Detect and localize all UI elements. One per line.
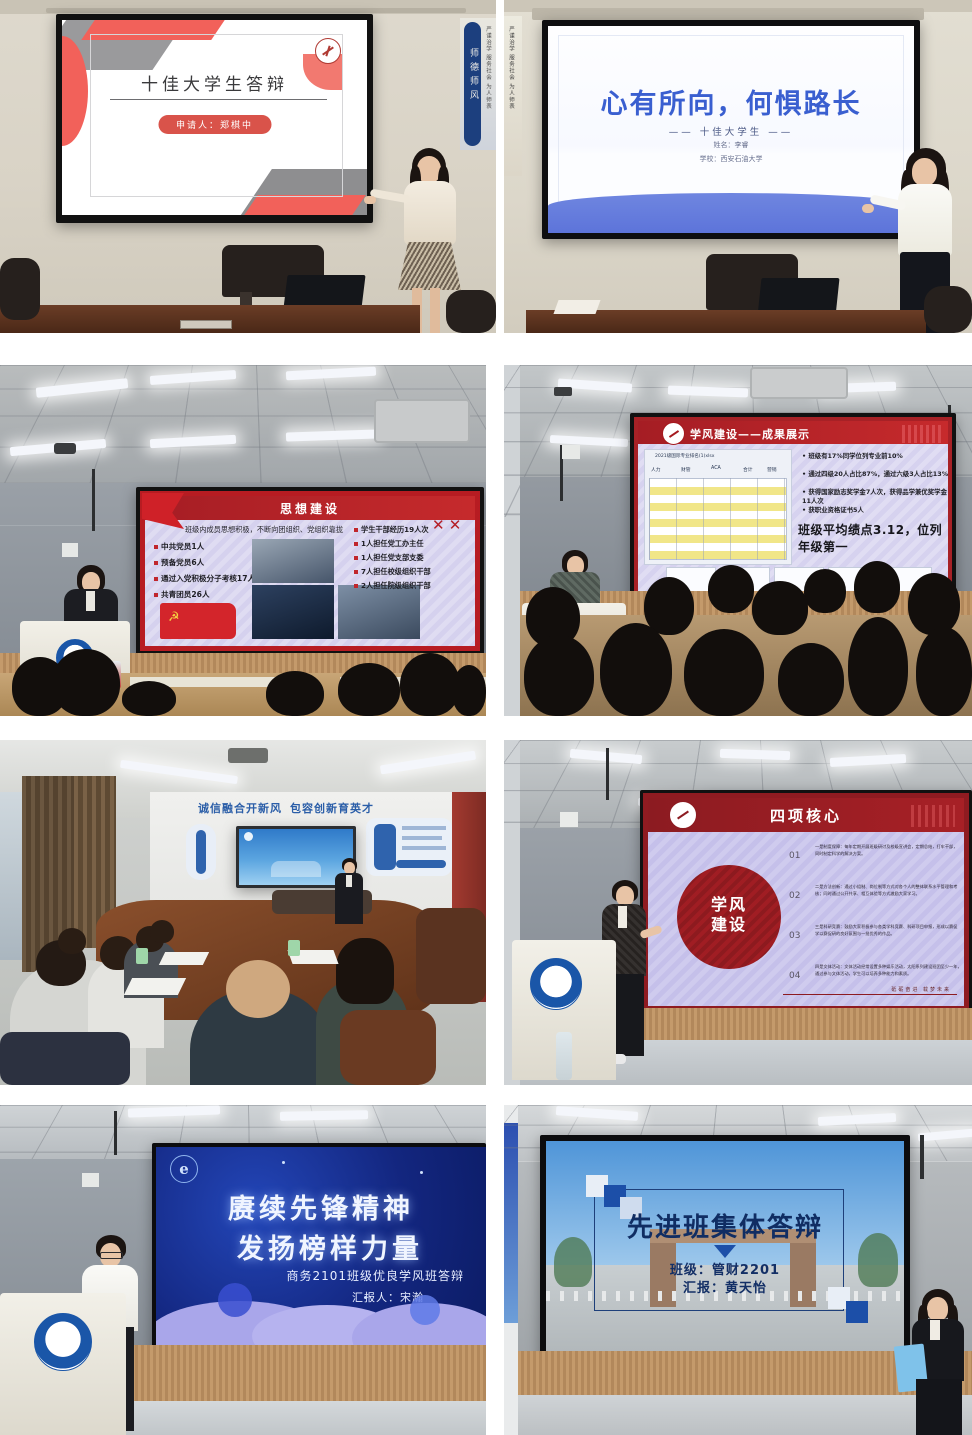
slide-bullet: 1人担任党工办主任 xyxy=(354,539,424,549)
school-logo-icon xyxy=(315,38,341,64)
slide-bullet: 共青团员26人 xyxy=(154,589,210,600)
slide-bullet: • 获得国家励志奖学金7人次，获得品学兼优奖学金11人次 xyxy=(802,487,952,505)
mount-pole xyxy=(920,1135,924,1179)
cup xyxy=(288,940,300,956)
slide-display-7: e 赓续先锋精神 发扬榜样力量 商务2101班级优良学风班答辩 汇报人：宋瀚 xyxy=(156,1147,486,1353)
slide-table: 2021级国际专业排名(1)xlsx 人力 财管 ACA 合计 营销 xyxy=(644,449,792,565)
cup xyxy=(136,948,148,964)
center-circle-label: 学风建设 xyxy=(677,895,781,935)
photo-row4-left[interactable]: e 赓续先锋精神 发扬榜样力量 商务2101班级优良学风班答辩 汇报人：宋瀚 xyxy=(0,1105,486,1435)
slide-title: 学风建设——成果展示 xyxy=(690,426,810,442)
slide-table-caption: 2021级国际专业排名(1)xlsx xyxy=(655,453,714,459)
slide-subtitle: —— 十佳大学生 —— xyxy=(548,124,914,138)
item-text: 三是科研竞赛：鼓励大家积极参与各类学科竞赛、科研项目申报，形成以赛促学以赛促研的… xyxy=(815,923,961,937)
brand-logo-icon: e xyxy=(170,1155,198,1183)
slide-display-8: 先进班集体答辩 班级：管财2201 汇报：黄天怡 xyxy=(546,1141,904,1371)
item-number: 03 xyxy=(789,931,800,941)
school-logo-icon xyxy=(662,422,685,445)
school-emblem-icon xyxy=(530,958,582,1010)
slide-title-line2: 发扬榜样力量 xyxy=(174,1227,486,1266)
dove-icon: ✕ ✕ xyxy=(432,519,470,537)
item-text: 二是方法创新：通过小组制、岗位制等方式对各个人的整体联系水平管理和考核；同时通过… xyxy=(815,883,963,897)
projector-icon xyxy=(54,443,76,454)
triangle-marker xyxy=(714,1245,736,1258)
wall-banner-partial: 严谨治学 服务社会 为人师表 xyxy=(504,16,522,176)
lectern xyxy=(0,1293,126,1435)
photo-row2-right[interactable]: 学风建设——成果展示 2021级国际专业排名(1)xlsx 人力 财管 ACA … xyxy=(504,365,972,716)
photo-row1-right[interactable]: 严谨治学 服务社会 为人师表 心有所向，何惧路长 —— 十佳大学生 —— 姓名：… xyxy=(504,0,972,333)
skyline-decor xyxy=(902,425,942,443)
item-text: 一是制度保障：每年定期开展班级研讨及校级宣讲会，定期总结，打牢干部，同时制定科学… xyxy=(815,843,961,857)
wall-slogan-left: 诚信融合开新风 xyxy=(198,800,282,816)
slide-title: 先进班集体答辩 xyxy=(546,1207,904,1244)
slide-title-line1: 赓续先锋精神 xyxy=(156,1187,486,1226)
glasses-icon xyxy=(100,1252,123,1259)
wall-banner-sub: 严谨治学 服务社会 为人师表 xyxy=(507,26,515,110)
slide-bullet: 2人担任院级组织干部 xyxy=(354,581,431,591)
item-number: 01 xyxy=(789,851,800,861)
slide-field-reporter: 汇报：黄天怡 xyxy=(546,1277,904,1296)
slide-applicant-badge: 申请人：郑棋中 xyxy=(158,115,271,134)
slide-title: 十佳大学生答辩 xyxy=(62,70,367,95)
slide-display-2: 心有所向，何惧路长 —— 十佳大学生 —— 姓名：李睿 学校：西安石油大学 xyxy=(548,26,914,233)
slide-subtitle: 商务2101班级优良学风班答辩 xyxy=(286,1267,464,1284)
ac-vent xyxy=(374,399,470,443)
slide-bullet: 中共党员1人 xyxy=(154,541,204,552)
item-text: 四是文体活动：文体活动经常设置多种娱乐活动，太阳系列建设班团至少一年，通过参与文… xyxy=(815,963,963,977)
slide-footer: 砥砺奋进 载梦未来 xyxy=(891,986,951,993)
slide-field-school: 学校：西安石油大学 xyxy=(548,154,914,164)
slide-display-1: 十佳大学生答辩 申请人：郑棋中 xyxy=(62,20,367,215)
slide-bullet: 学生干部经历19人次 xyxy=(354,525,429,535)
slide-display-4: 学风建设——成果展示 2021级国际专业排名(1)xlsx 人力 财管 ACA … xyxy=(634,417,952,599)
slide-title: 心有所向，何惧路长 xyxy=(548,82,914,121)
projector-icon xyxy=(228,748,268,763)
school-emblem-icon xyxy=(34,1313,92,1371)
wall-banner-headline: 师德师风 xyxy=(467,48,480,104)
photo-row1-left[interactable]: 十佳大学生答辩 申请人：郑棋中 师德师风 严谨治学 服务社会 为人师表 xyxy=(0,0,496,333)
slide-bullet: • 班级有17%同学位列专业前10% xyxy=(802,451,903,460)
slide-bullet: • 获职业资格证书5人 xyxy=(802,505,864,514)
ac-vent xyxy=(750,367,848,399)
skyline-decor xyxy=(911,805,955,827)
party-flag-icon: ☭ xyxy=(160,603,236,639)
wall-banner: 师德师风 严谨治学 服务社会 为人师表 xyxy=(460,18,496,150)
photo-row4-right[interactable]: 先进班集体答辩 班级：管财2201 汇报：黄天怡 xyxy=(504,1105,972,1435)
slide-highlight: 班级平均绩点3.12，位列年级第一 xyxy=(798,521,952,555)
wall-slogan-right: 包容创新育英才 xyxy=(290,800,374,816)
item-number: 04 xyxy=(789,971,800,981)
slide-field-name: 姓名：李睿 xyxy=(548,140,914,150)
wall-banner-sub: 严谨治学 服务社会 为人师表 xyxy=(484,26,492,110)
slide-title: 思想建设 xyxy=(140,500,480,517)
presenter-person xyxy=(908,1289,970,1435)
projector-icon xyxy=(554,387,572,396)
school-logo-icon xyxy=(244,832,253,841)
presenter-person xyxy=(334,858,364,924)
slide-bullet: • 通过四级20人占比87%，通过六级3人占比13% xyxy=(802,469,948,478)
center-circle: 学风建设 xyxy=(677,865,781,969)
item-number: 02 xyxy=(789,891,800,901)
slide-display-6: 四项核心 学风建设 01 一是制度保障：每年定期开展班级研讨及校级宣讲会，定期总… xyxy=(643,793,969,1011)
photo-row3-right[interactable]: 四项核心 学风建设 01 一是制度保障：每年定期开展班级研讨及校级宣讲会，定期总… xyxy=(504,740,972,1085)
water-bottle xyxy=(556,1032,572,1080)
slide-bullet: 7人担任校级组织干部 xyxy=(354,567,431,577)
photo-row2-left[interactable]: 思想建设 ✕ ✕ 班级内成员思想积极，不断向团组织、党组织靠拢 中共党员1人 预… xyxy=(0,365,486,716)
slide-bullet: 预备党员6人 xyxy=(154,557,204,568)
slide-lead: 班级内成员思想积极，不断向团组织、党组织靠拢 xyxy=(154,525,374,535)
photo-row3-left[interactable]: 诚信融合开新风 包容创新育英才 xyxy=(0,740,486,1085)
slide-bullet: 通过入党积极分子考核17人 xyxy=(154,573,255,584)
slide-field-class: 班级：管财2201 xyxy=(546,1259,904,1278)
photo-gallery: 十佳大学生答辩 申请人：郑棋中 师德师风 严谨治学 服务社会 为人师表 xyxy=(0,0,972,1435)
slide-bullet: 1人担任党支部支委 xyxy=(354,553,424,563)
slide-display-3: 思想建设 ✕ ✕ 班级内成员思想积极，不断向团组织、党组织靠拢 中共党员1人 预… xyxy=(140,491,480,651)
